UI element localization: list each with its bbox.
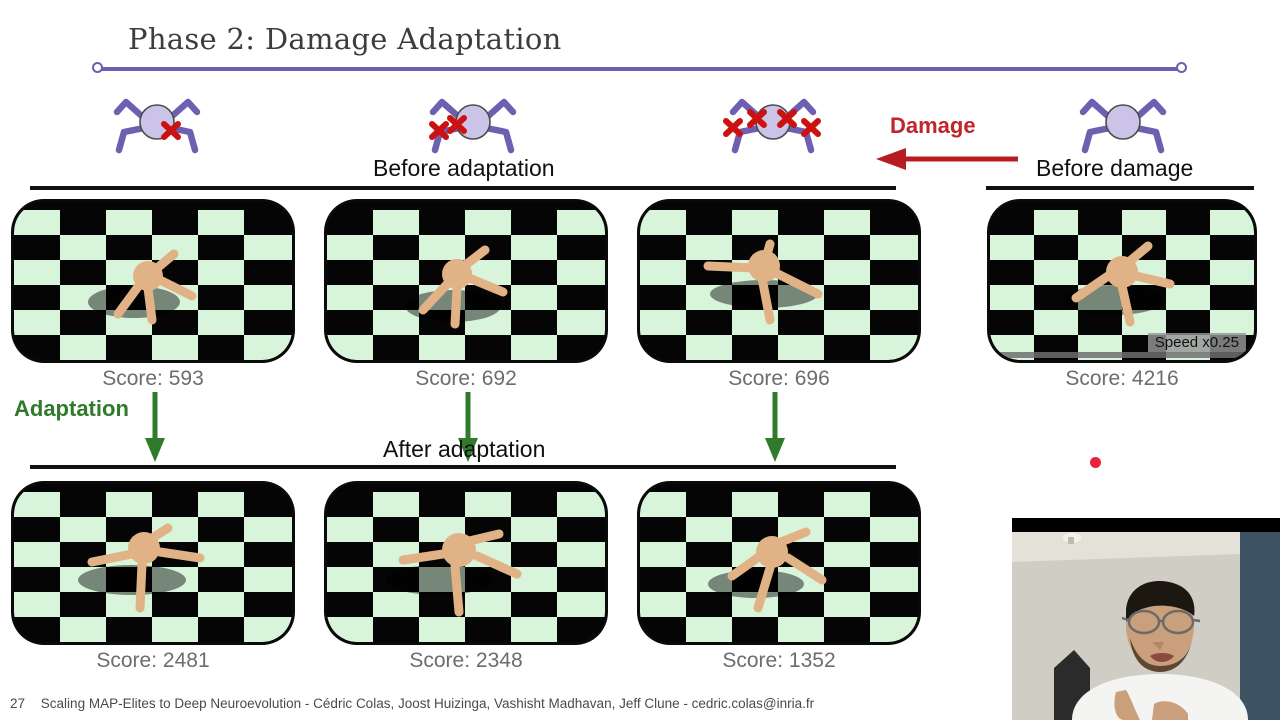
- checkerboard-arena: [14, 202, 292, 360]
- score-after-1: Score: 2481: [14, 649, 292, 673]
- score-after-2: Score: 2348: [327, 649, 605, 673]
- slide-root: Phase 2: Damage Adaptation: [0, 0, 1280, 720]
- rule-after-adaptation: [30, 465, 896, 469]
- checkerboard-arena: [14, 484, 292, 642]
- footer-text: Scaling MAP-Elites to Deep Neuroevolutio…: [41, 696, 814, 711]
- spider-one-leg-damaged: [102, 88, 212, 158]
- page-title: Phase 2: Damage Adaptation: [128, 22, 562, 56]
- presenter-webcam[interactable]: [1012, 518, 1280, 720]
- sim-before-2[interactable]: [327, 202, 605, 360]
- label-before-adaptation: Before adaptation: [373, 155, 555, 182]
- damage-arrow-icon: [870, 148, 1020, 170]
- record-dot: [1090, 457, 1101, 468]
- score-before-1: Score: 593: [14, 367, 292, 391]
- adaptation-label: Adaptation: [14, 396, 129, 422]
- spider-undamaged: [1068, 88, 1178, 158]
- speed-badge: Speed x0.25: [1148, 333, 1246, 352]
- score-before-3: Score: 696: [640, 367, 918, 391]
- timeline-knob-start[interactable]: [92, 62, 103, 73]
- adaptation-arrow-3-icon: [762, 392, 788, 464]
- sim-after-2[interactable]: [327, 484, 605, 642]
- sim-after-1[interactable]: [14, 484, 292, 642]
- timeline-knob-end[interactable]: [1176, 62, 1187, 73]
- sim-before-1[interactable]: [14, 202, 292, 360]
- checkerboard-arena: [640, 484, 918, 642]
- damage-label: Damage: [890, 113, 976, 139]
- footer-page-number: 27: [10, 696, 25, 711]
- checkerboard-arena: [327, 484, 605, 642]
- sim-after-3[interactable]: [640, 484, 918, 642]
- score-before-damage: Score: 4216: [990, 367, 1254, 391]
- label-after-adaptation: After adaptation: [383, 436, 545, 463]
- sim-before-damage[interactable]: Speed x0.25: [990, 202, 1254, 360]
- label-before-damage: Before damage: [1036, 155, 1193, 182]
- footer: 27 Scaling MAP-Elites to Deep Neuroevolu…: [10, 696, 814, 711]
- sim-before-3[interactable]: [640, 202, 918, 360]
- score-after-3: Score: 1352: [640, 649, 918, 673]
- timeline[interactable]: [92, 62, 1187, 76]
- score-before-2: Score: 692: [327, 367, 605, 391]
- timeline-bar[interactable]: [98, 67, 1181, 71]
- rule-before-damage: [986, 186, 1254, 190]
- checkerboard-arena: [327, 202, 605, 360]
- spider-two-legs-damaged: [418, 88, 528, 158]
- rule-before-adaptation: [30, 186, 896, 190]
- spider-four-legs-damaged: [718, 88, 828, 158]
- playback-progress-track[interactable]: [996, 352, 1248, 358]
- adaptation-arrow-1-icon: [142, 392, 168, 464]
- checkerboard-arena: [640, 202, 918, 360]
